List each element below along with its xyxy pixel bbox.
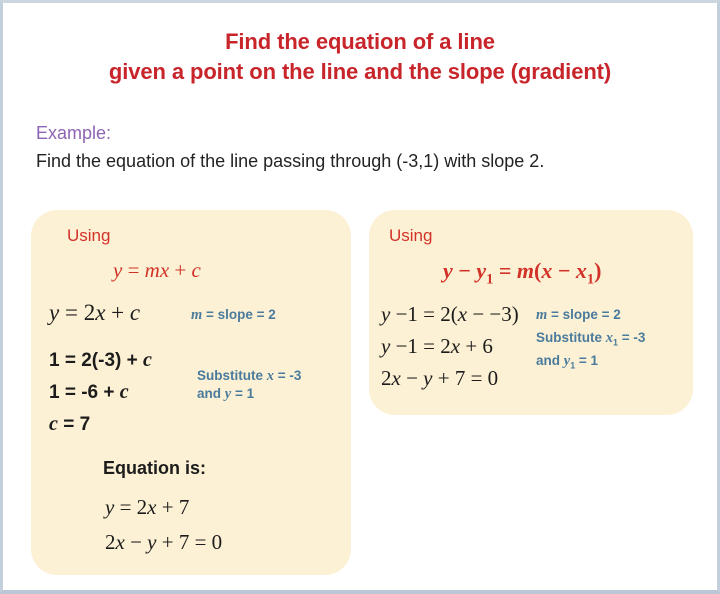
formula-slope-intercept: y = mx + c [113, 258, 201, 283]
annotation-left-substitute-line2: and y = 1 [197, 385, 301, 403]
title-line-2: given a point on the line and the slope … [3, 57, 717, 87]
result-left-2: 2x − y + 7 = 0 [105, 530, 222, 555]
method-panel-slope-intercept: Using y = mx + c y = 2x + c m = slope = … [31, 210, 351, 575]
annotation-right-substitute-line2: and y1 = 1 [536, 352, 645, 375]
step-left-1: y = 2x + c [49, 300, 140, 326]
annotation-right-substitute-line1: Substitute x1 = -3 [536, 329, 645, 352]
formula-point-slope: y − y1 = m(x − x1) [443, 258, 601, 288]
problem-statement: Find the equation of the line passing th… [36, 151, 544, 172]
annotation-left-substitute: Substitute x = -3 and y = 1 [197, 367, 301, 403]
step-left-2: 1 = 2(-3) + c [49, 349, 152, 372]
step-left-3: 1 = -6 + c [49, 381, 129, 404]
annotation-right-substitute: Substitute x1 = -3 and y1 = 1 [536, 329, 645, 374]
step-right-3: 2x − y + 7 = 0 [381, 366, 498, 391]
equation-is-label: Equation is: [103, 458, 206, 479]
using-label-right: Using [389, 226, 432, 246]
step-right-1: y −1 = 2(x − −3) [381, 302, 519, 327]
example-label: Example: [36, 123, 111, 144]
annotation-right-slope: m = slope = 2 [536, 306, 621, 324]
step-left-4: c = 7 [49, 413, 90, 436]
using-label-left: Using [67, 226, 110, 246]
annotation-left-slope: m = slope = 2 [191, 306, 276, 324]
page-title: Find the equation of a line given a poin… [3, 27, 717, 87]
step-right-2: y −1 = 2x + 6 [381, 334, 493, 359]
title-line-1: Find the equation of a line [3, 27, 717, 57]
worksheet-canvas: Find the equation of a line given a poin… [0, 0, 720, 594]
result-left-1: y = 2x + 7 [105, 495, 189, 520]
method-panel-point-slope: Using y − y1 = m(x − x1) y −1 = 2(x − −3… [369, 210, 693, 415]
annotation-left-substitute-line1: Substitute x = -3 [197, 367, 301, 385]
